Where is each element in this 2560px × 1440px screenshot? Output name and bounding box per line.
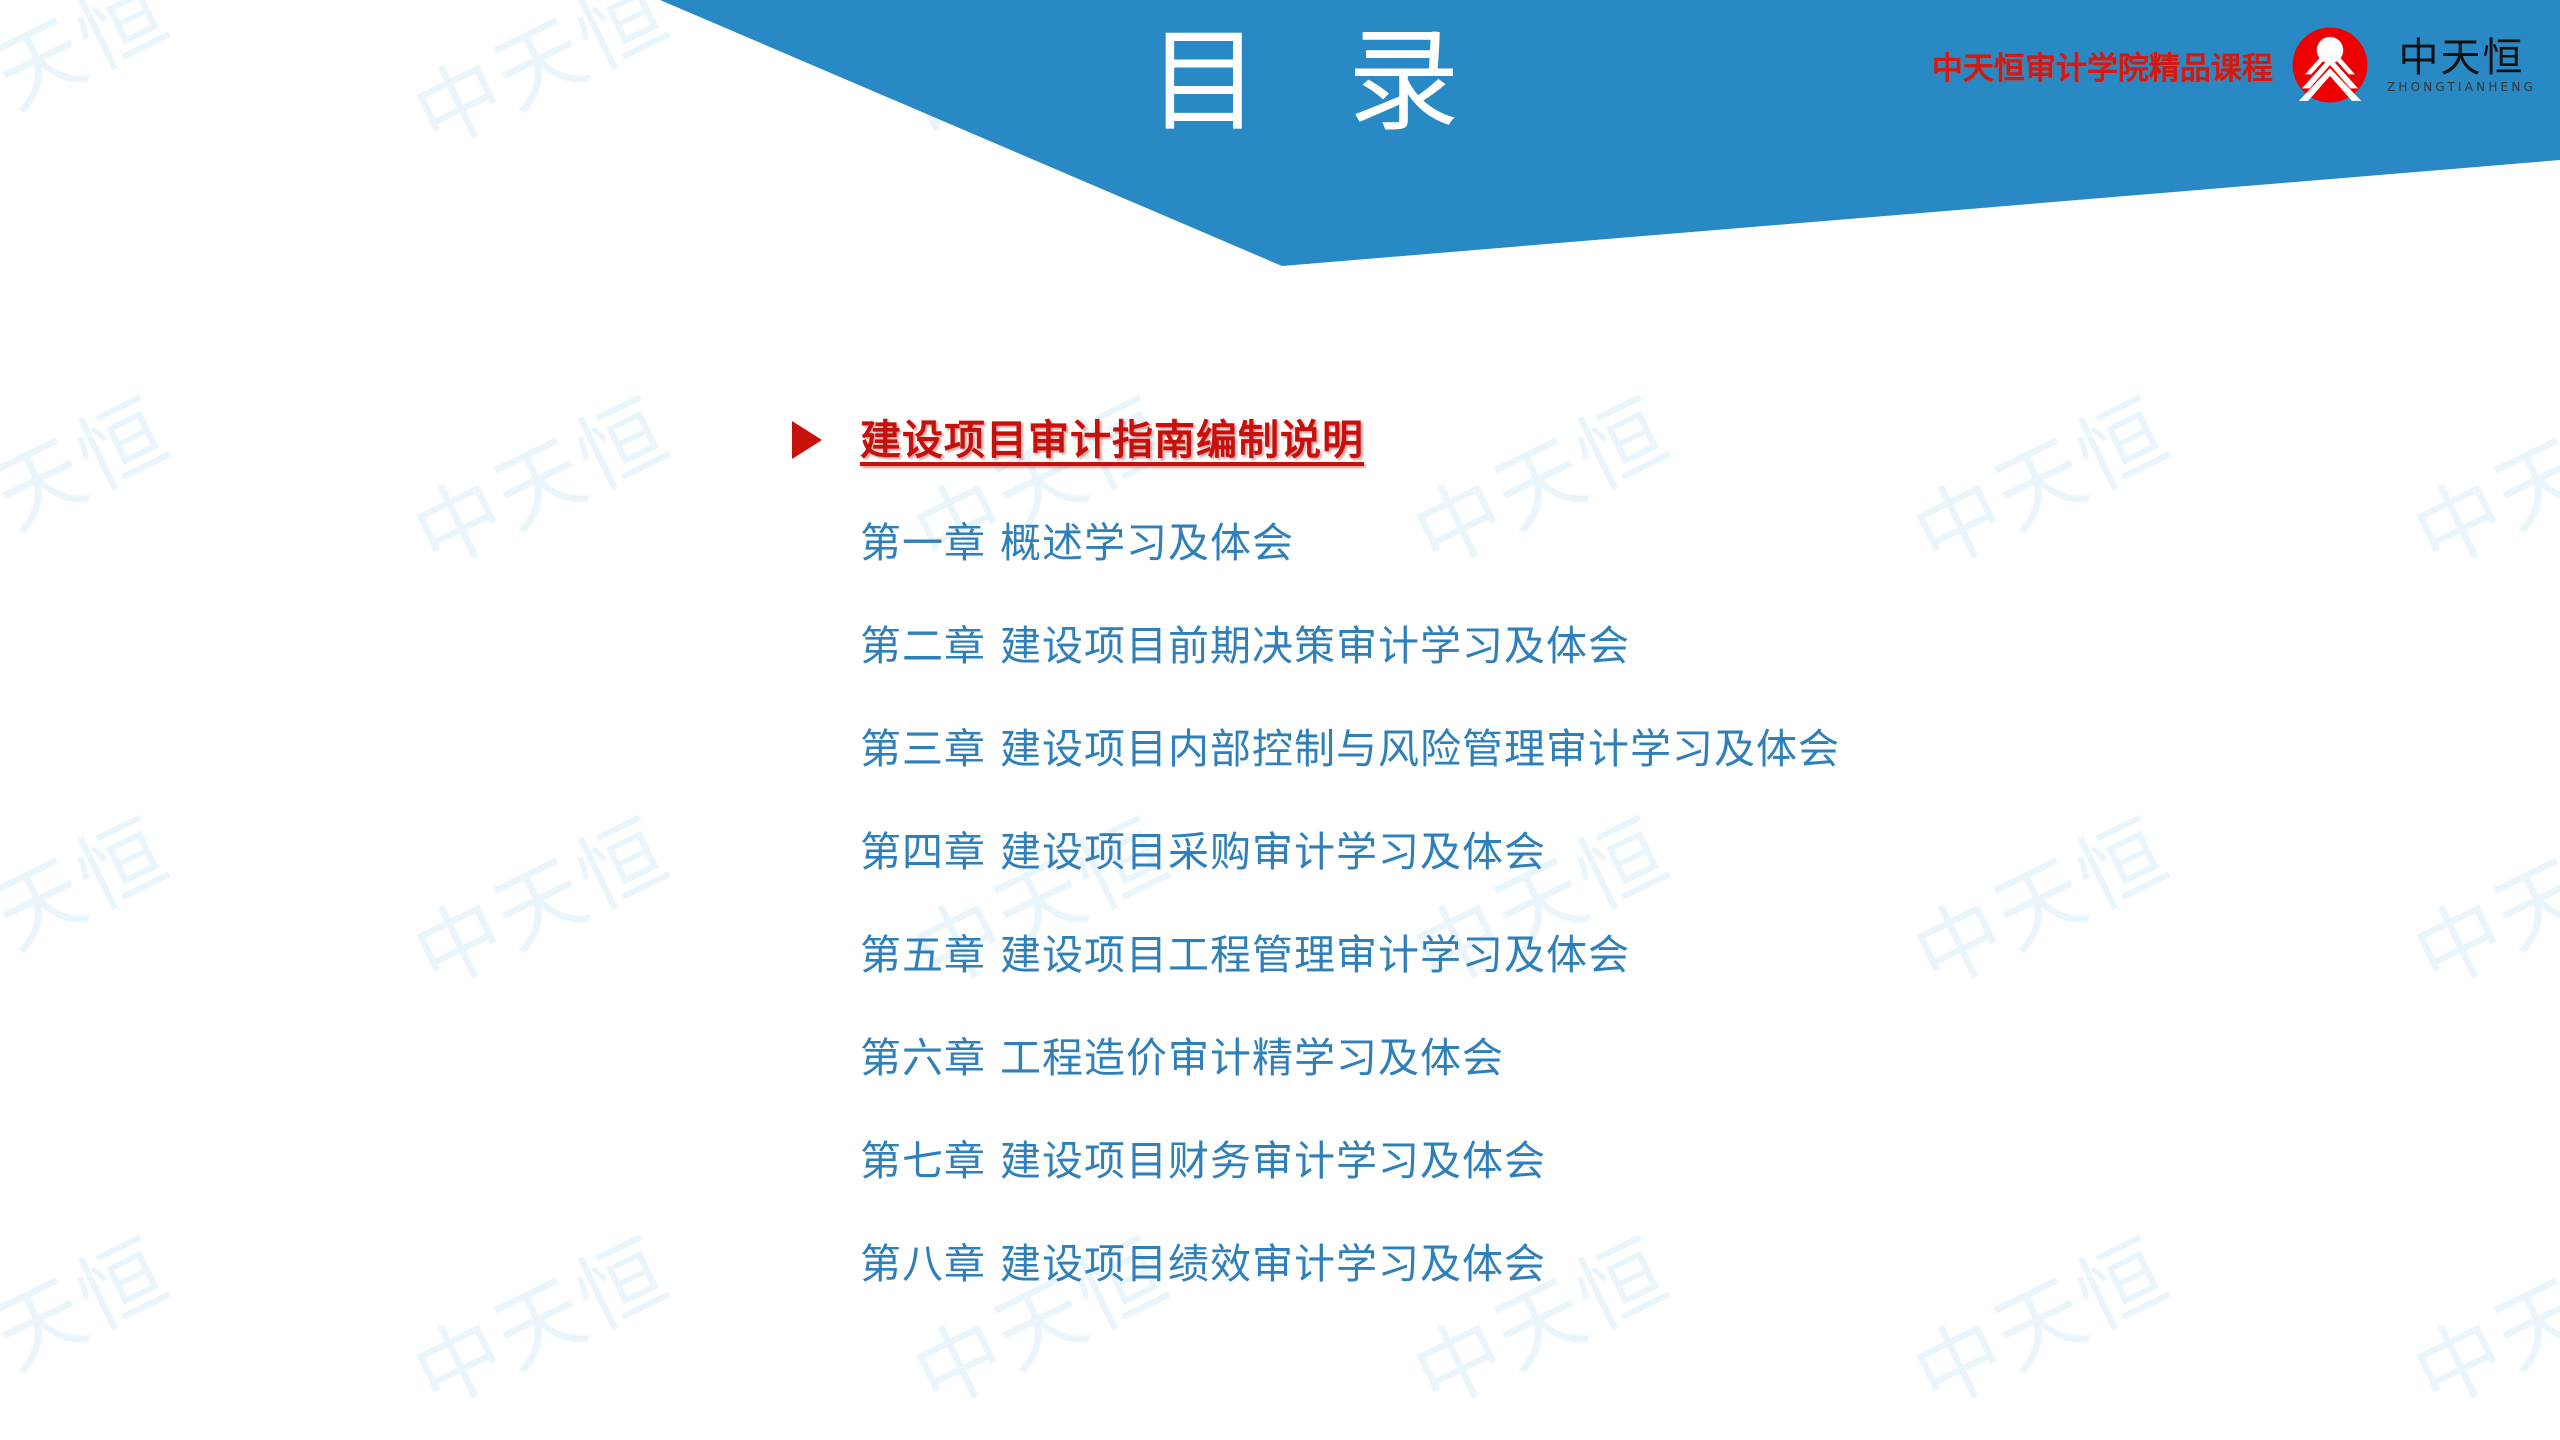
logo-chinese-name: 中天恒 — [2398, 37, 2524, 79]
toc-item-label: 第一章 概述学习及体会 — [860, 518, 1294, 568]
zhongtianheng-logo-icon — [2291, 26, 2369, 104]
watermark-text: 中天恒 — [2390, 362, 2560, 593]
toc-item-9[interactable]: 第八章 建设项目绩效审计学习及体会 — [800, 1212, 2300, 1315]
toc-item-6[interactable]: 第五章 建设项目工程管理审计学习及体会 — [800, 903, 2300, 1006]
toc-item-label: 第四章 建设项目采购审计学习及体会 — [860, 827, 1546, 877]
toc-item-5[interactable]: 第四章 建设项目采购审计学习及体会 — [800, 800, 2300, 903]
table-of-contents: 建设项目审计指南编制说明第一章 概述学习及体会第二章 建设项目前期决策审计学习及… — [800, 388, 2300, 1315]
toc-item-label: 第五章 建设项目工程管理审计学习及体会 — [860, 930, 1630, 980]
toc-item-label: 第七章 建设项目财务审计学习及体会 — [860, 1136, 1546, 1186]
toc-item-3[interactable]: 第二章 建设项目前期决策审计学习及体会 — [800, 594, 2300, 697]
toc-item-7[interactable]: 第六章 工程造价审计精学习及体会 — [800, 1006, 2300, 1109]
presentation-slide: 中天恒中天恒中天恒中天恒中天恒中天恒中天恒中天恒中天恒中天恒中天恒中天恒中天恒中… — [0, 0, 2560, 1440]
logo-wordmark: 中天恒 ZHONGTIANHENG — [2387, 37, 2536, 94]
watermark-text: 中天恒 — [0, 362, 187, 593]
toc-item-label: 建设项目审计指南编制说明 — [860, 415, 1364, 465]
watermark-text: 中天恒 — [390, 782, 687, 1013]
brand-lockup: 中天恒审计学院精品课程 中天恒 ZHONGTIANHENG — [1932, 26, 2536, 104]
toc-item-4[interactable]: 第三章 建设项目内部控制与风险管理审计学习及体会 — [800, 697, 2300, 800]
course-brand-label: 中天恒审计学院精品课程 — [1932, 43, 2273, 88]
page-title: 目 录 — [1148, 22, 1486, 142]
toc-item-2[interactable]: 第一章 概述学习及体会 — [800, 491, 2300, 594]
watermark-text: 中天恒 — [390, 362, 687, 593]
triangle-bullet-icon — [792, 421, 822, 459]
toc-item-label: 第二章 建设项目前期决策审计学习及体会 — [860, 621, 1630, 671]
toc-item-label: 第八章 建设项目绩效审计学习及体会 — [860, 1239, 1546, 1289]
watermark-text: 中天恒 — [2390, 1202, 2560, 1433]
toc-item-1[interactable]: 建设项目审计指南编制说明 — [800, 388, 2300, 491]
watermark-text: 中天恒 — [390, 1202, 687, 1433]
toc-item-label: 第六章 工程造价审计精学习及体会 — [860, 1033, 1504, 1083]
watermark-text: 中天恒 — [0, 1202, 187, 1433]
toc-item-8[interactable]: 第七章 建设项目财务审计学习及体会 — [800, 1109, 2300, 1212]
logo-pinyin-name: ZHONGTIANHENG — [2387, 81, 2536, 94]
watermark-text: 中天恒 — [2390, 782, 2560, 1013]
toc-item-label: 第三章 建设项目内部控制与风险管理审计学习及体会 — [860, 724, 1840, 774]
watermark-text: 中天恒 — [0, 782, 187, 1013]
